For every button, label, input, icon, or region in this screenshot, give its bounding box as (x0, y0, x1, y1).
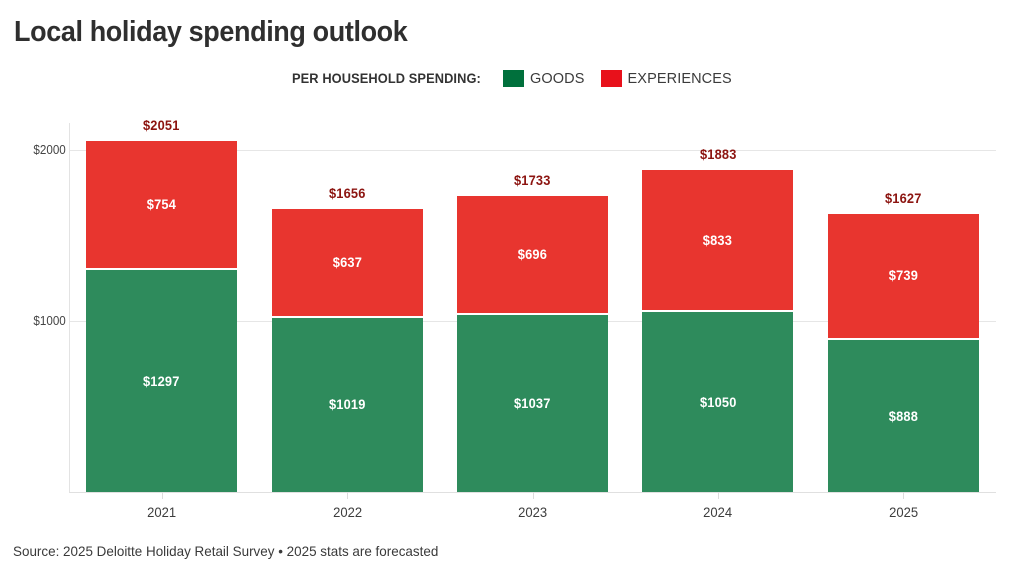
x-axis-tick-label-2021: 2021 (69, 504, 254, 520)
bar-segment-label-goods: $1297 (143, 374, 180, 389)
x-axis-tick-mark (718, 492, 719, 499)
legend-entry-goods[interactable]: GOODS (503, 70, 584, 87)
bar-segment-experiences-2023[interactable]: $696 (457, 196, 608, 313)
bar-segment-experiences-2025[interactable]: $739 (828, 214, 979, 338)
legend-swatch-goods-icon (503, 70, 524, 87)
legend-entry-experiences[interactable]: EXPERIENCES (601, 70, 732, 87)
bar-total-label-2021: $2051 (86, 118, 237, 133)
bar-total-label-2025: $1627 (828, 191, 979, 206)
x-axis-tick-mark (903, 492, 904, 499)
legend-label-goods: GOODS (530, 71, 584, 87)
legend-swatch-experiences-icon (601, 70, 622, 87)
y-axis-line (69, 123, 70, 492)
bar-segment-goods-2025[interactable]: $888 (828, 340, 979, 492)
chart-container: Local holiday spending outlook PER HOUSE… (0, 0, 1024, 576)
bar-segment-experiences-2021[interactable]: $754 (86, 141, 237, 268)
bar-segment-label-experiences: $739 (889, 268, 918, 283)
chart-legend: PER HOUSEHOLD SPENDING: GOODS EXPERIENCE… (0, 70, 1024, 87)
x-axis-baseline (69, 492, 996, 493)
bar-segment-goods-2024[interactable]: $1050 (642, 312, 793, 492)
x-axis-tick-label-2024: 2024 (625, 504, 810, 520)
bar-total-label-2023: $1733 (457, 173, 608, 188)
x-axis-tick-mark (533, 492, 534, 499)
x-axis-tick-label-2025: 2025 (811, 504, 996, 520)
bar-group-2021[interactable]: $754$1297 (86, 141, 237, 492)
x-axis-tick-mark (347, 492, 348, 499)
bar-segment-experiences-2022[interactable]: $637 (272, 209, 423, 316)
bar-segment-label-goods: $888 (889, 409, 918, 424)
bar-segment-label-goods: $1050 (700, 395, 737, 410)
gridline (69, 321, 996, 322)
bar-segment-label-experiences: $637 (332, 255, 361, 270)
page-title: Local holiday spending outlook (14, 16, 407, 49)
bar-segment-goods-2022[interactable]: $1019 (272, 318, 423, 492)
bar-segment-goods-2021[interactable]: $1297 (86, 270, 237, 492)
bar-group-2023[interactable]: $696$1037 (457, 196, 608, 492)
bar-group-2024[interactable]: $833$1050 (642, 170, 793, 492)
bar-segment-label-experiences: $754 (147, 197, 176, 212)
x-axis-tick-label-2023: 2023 (440, 504, 625, 520)
gridline (69, 150, 996, 151)
bar-total-label-2024: $1883 (642, 147, 793, 162)
x-axis-tick-label-2022: 2022 (254, 504, 439, 520)
y-axis-tick-label: $2000 (34, 143, 66, 157)
bar-segment-label-experiences: $696 (518, 247, 547, 262)
bar-segment-goods-2023[interactable]: $1037 (457, 315, 608, 492)
bar-segment-experiences-2024[interactable]: $833 (642, 170, 793, 310)
y-axis-tick-label: $1000 (34, 314, 66, 328)
bar-group-2022[interactable]: $637$1019 (272, 209, 423, 492)
legend-title: PER HOUSEHOLD SPENDING: (292, 71, 481, 86)
x-axis-tick-mark (162, 492, 163, 499)
bar-segment-label-experiences: $833 (703, 233, 732, 248)
source-note: Source: 2025 Deloitte Holiday Retail Sur… (13, 543, 438, 559)
legend-label-experiences: EXPERIENCES (628, 71, 732, 87)
bar-segment-label-goods: $1019 (329, 397, 366, 412)
bar-group-2025[interactable]: $739$888 (828, 214, 979, 492)
bar-total-label-2022: $1656 (272, 186, 423, 201)
bar-segment-label-goods: $1037 (514, 396, 551, 411)
